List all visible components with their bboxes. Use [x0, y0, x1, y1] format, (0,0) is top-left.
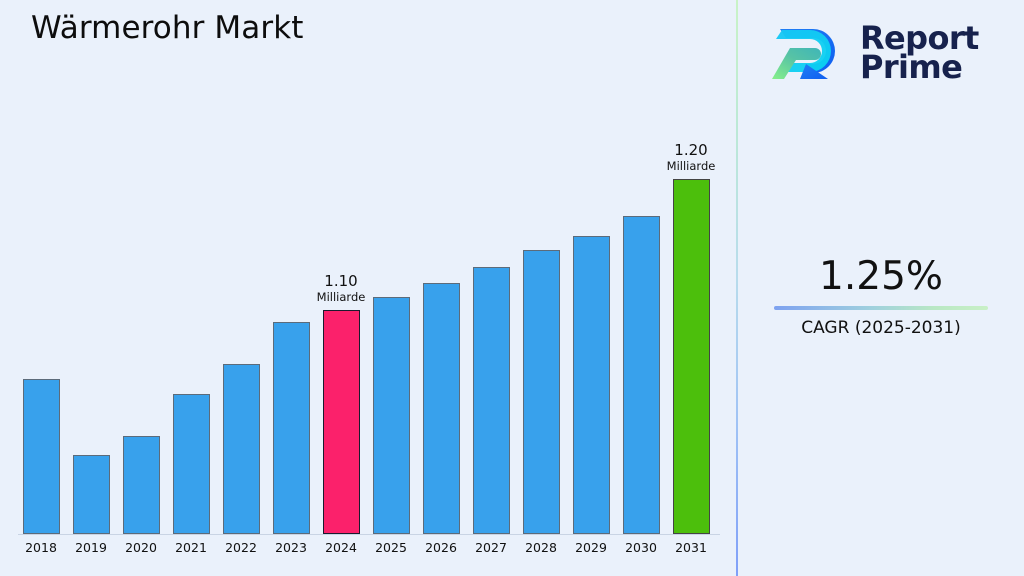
cagr-block: 1.25% CAGR (2025-2031) [748, 252, 1014, 340]
bar-rect-2020[interactable] [123, 436, 160, 534]
bar-callout-2024: 1.10Milliarde [317, 272, 366, 304]
x-axis-line [18, 534, 720, 535]
brand-name-line2: Prime [860, 53, 979, 82]
x-tick-2027: 2027 [466, 540, 516, 555]
x-tick-2019: 2019 [66, 540, 116, 555]
cagr-divider-rule [774, 306, 988, 310]
bar-rect-2027[interactable] [473, 267, 510, 534]
brand-panel: Report Prime 1.25% CAGR (2025-2031) [738, 0, 1024, 576]
x-tick-2026: 2026 [416, 540, 466, 555]
x-tick-2030: 2030 [616, 540, 666, 555]
bar-unit-2031: Milliarde [667, 159, 716, 173]
x-tick-2024: 2024 [316, 540, 366, 555]
cagr-label: CAGR (2025-2031) [748, 316, 1014, 340]
bar-rect-2021[interactable] [173, 394, 210, 534]
bar-rect-2018[interactable] [23, 379, 60, 534]
bar-2028[interactable] [516, 250, 566, 534]
chart-panel: Wärmerohr Markt 1.10Milliarde1.20Milliar… [0, 0, 737, 576]
bar-2018[interactable] [16, 379, 66, 534]
bar-rect-2022[interactable] [223, 364, 260, 534]
x-axis-tick-labels: 2018201920202021202220232024202520262027… [0, 537, 737, 567]
bar-2022[interactable] [216, 364, 266, 534]
bar-rect-2024[interactable] [323, 310, 360, 534]
bar-2026[interactable] [416, 283, 466, 534]
report-prime-logo: Report Prime [766, 14, 1002, 92]
bar-unit-2024: Milliarde [317, 290, 366, 304]
bar-value-2024: 1.10 [317, 272, 366, 290]
x-tick-2028: 2028 [516, 540, 566, 555]
bar-2024[interactable]: 1.10Milliarde [316, 310, 366, 534]
bar-rect-2026[interactable] [423, 283, 460, 534]
bar-rect-2030[interactable] [623, 216, 660, 534]
bar-2023[interactable] [266, 322, 316, 534]
bar-2027[interactable] [466, 267, 516, 534]
bar-rect-2025[interactable] [373, 297, 410, 534]
x-tick-2031: 2031 [666, 540, 716, 555]
bar-callout-2031: 1.20Milliarde [667, 141, 716, 173]
x-tick-2025: 2025 [366, 540, 416, 555]
page-title: Wärmerohr Markt [31, 10, 304, 46]
brand-name: Report Prime [860, 24, 979, 83]
bar-rect-2031[interactable] [673, 179, 710, 534]
x-tick-2029: 2029 [566, 540, 616, 555]
bar-2019[interactable] [66, 455, 116, 534]
bar-rect-2029[interactable] [573, 236, 610, 534]
bar-2030[interactable] [616, 216, 666, 534]
bar-2021[interactable] [166, 394, 216, 534]
bar-rect-2028[interactable] [523, 250, 560, 534]
x-tick-2020: 2020 [116, 540, 166, 555]
bar-2020[interactable] [116, 436, 166, 534]
cagr-value: 1.25% [748, 252, 1014, 302]
x-tick-2018: 2018 [16, 540, 66, 555]
x-tick-2023: 2023 [266, 540, 316, 555]
x-tick-2022: 2022 [216, 540, 266, 555]
infographic-root: Wärmerohr Markt 1.10Milliarde1.20Milliar… [0, 0, 1024, 576]
report-prime-logo-icon [766, 17, 846, 89]
bar-2029[interactable] [566, 236, 616, 534]
x-tick-2021: 2021 [166, 540, 216, 555]
bar-rect-2023[interactable] [273, 322, 310, 534]
bar-rect-2019[interactable] [73, 455, 110, 534]
bar-2025[interactable] [366, 297, 416, 534]
bar-2031[interactable]: 1.20Milliarde [666, 179, 716, 534]
bar-chart-plot-area: 1.10Milliarde1.20Milliarde [0, 120, 737, 540]
bar-value-2031: 1.20 [667, 141, 716, 159]
